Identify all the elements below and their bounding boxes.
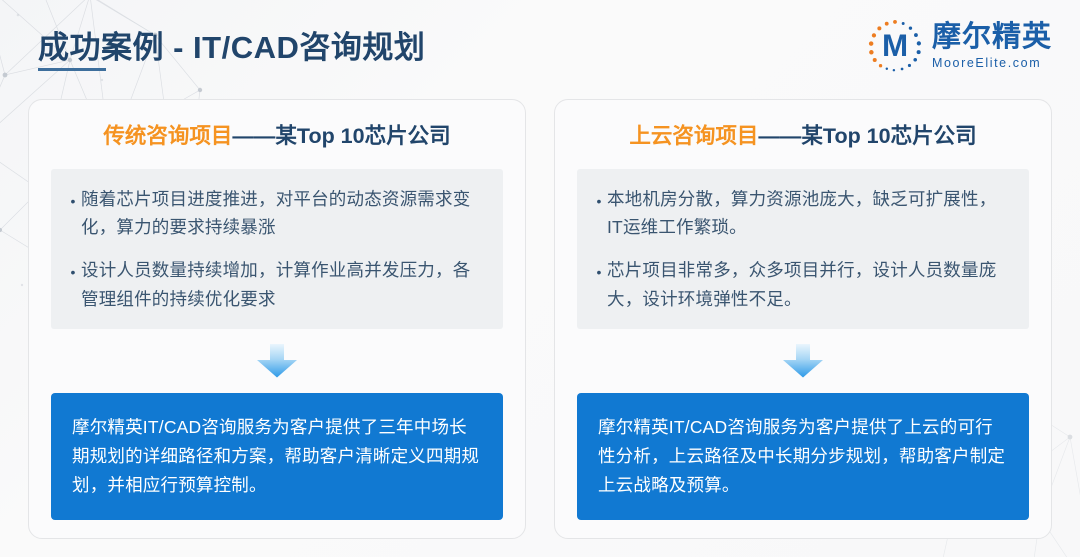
card-title-cloud: 上云咨询项目——某Top 10芯片公司 <box>577 124 1029 150</box>
svg-text:M: M <box>882 28 908 63</box>
title-underline-accent <box>38 68 106 71</box>
logo-company-name-cn: 摩尔精英 <box>932 23 1052 52</box>
bullet-dot-icon: • <box>591 194 607 208</box>
bullet-text: 芯片项目非常多，众多项目并行，设计人员数量庞大，设计环境弹性不足。 <box>607 256 1011 313</box>
card-title-rest: ——某Top 10芯片公司 <box>758 124 976 148</box>
bullet-text: 随着芯片项目进度推进，对平台的动态资源需求变化，算力的要求持续暴涨 <box>81 185 485 242</box>
list-item: • 设计人员数量持续增加，计算作业高并发压力，各管理组件的持续优化要求 <box>65 256 485 313</box>
case-card-traditional: 传统咨询项目——某Top 10芯片公司 • 随着芯片项目进度推进，对平台的动态资… <box>28 99 526 539</box>
conclusion-box-traditional: 摩尔精英IT/CAD咨询服务为客户提供了三年中场长期规划的详细路径和方案，帮助客… <box>51 393 503 520</box>
slide-header: 成功案例 - IT/CAD咨询规划 <box>0 0 1080 92</box>
list-item: • 本地机房分散，算力资源池庞大，缺乏可扩展性，IT运维工作繁琐。 <box>591 185 1011 242</box>
down-arrow-icon <box>782 344 824 378</box>
slide: 成功案例 - IT/CAD咨询规划 <box>0 0 1080 557</box>
conclusion-box-cloud: 摩尔精英IT/CAD咨询服务为客户提供了上云的可行性分析，上云路径及中长期分步规… <box>577 393 1029 520</box>
case-card-cloud: 上云咨询项目——某Top 10芯片公司 • 本地机房分散，算力资源池庞大，缺乏可… <box>554 99 1052 539</box>
bullet-text: 设计人员数量持续增加，计算作业高并发压力，各管理组件的持续优化要求 <box>81 256 485 313</box>
list-item: • 芯片项目非常多，众多项目并行，设计人员数量庞大，设计环境弹性不足。 <box>591 256 1011 313</box>
arrow-container-traditional <box>51 329 503 393</box>
pain-points-box-cloud: • 本地机房分散，算力资源池庞大，缺乏可扩展性，IT运维工作繁琐。 • 芯片项目… <box>577 169 1029 329</box>
bullet-text: 本地机房分散，算力资源池庞大，缺乏可扩展性，IT运维工作繁琐。 <box>607 185 1011 242</box>
bullet-dot-icon: • <box>65 194 81 208</box>
page-title: 成功案例 - IT/CAD咨询规划 <box>38 22 425 67</box>
arrow-container-cloud <box>577 329 1029 393</box>
bullet-dot-icon: • <box>65 265 81 279</box>
bullet-dot-icon: • <box>591 265 607 279</box>
list-item: • 随着芯片项目进度推进，对平台的动态资源需求变化，算力的要求持续暴涨 <box>65 185 485 242</box>
down-arrow-icon <box>256 344 298 378</box>
moore-elite-logo-mark-icon: M <box>867 18 923 74</box>
case-card-container: 传统咨询项目——某Top 10芯片公司 • 随着芯片项目进度推进，对平台的动态资… <box>28 99 1052 539</box>
pain-points-box-traditional: • 随着芯片项目进度推进，对平台的动态资源需求变化，算力的要求持续暴涨 • 设计… <box>51 169 503 329</box>
brand-logo: M 摩尔精英 MooreElite.com <box>867 18 1052 74</box>
logo-company-domain: MooreElite.com <box>932 57 1052 70</box>
logo-text-block: 摩尔精英 MooreElite.com <box>932 23 1052 70</box>
card-title-traditional: 传统咨询项目——某Top 10芯片公司 <box>51 124 503 150</box>
card-title-rest: ——某Top 10芯片公司 <box>232 124 450 148</box>
card-title-accent: 上云咨询项目 <box>629 124 758 148</box>
card-title-accent: 传统咨询项目 <box>103 124 232 148</box>
